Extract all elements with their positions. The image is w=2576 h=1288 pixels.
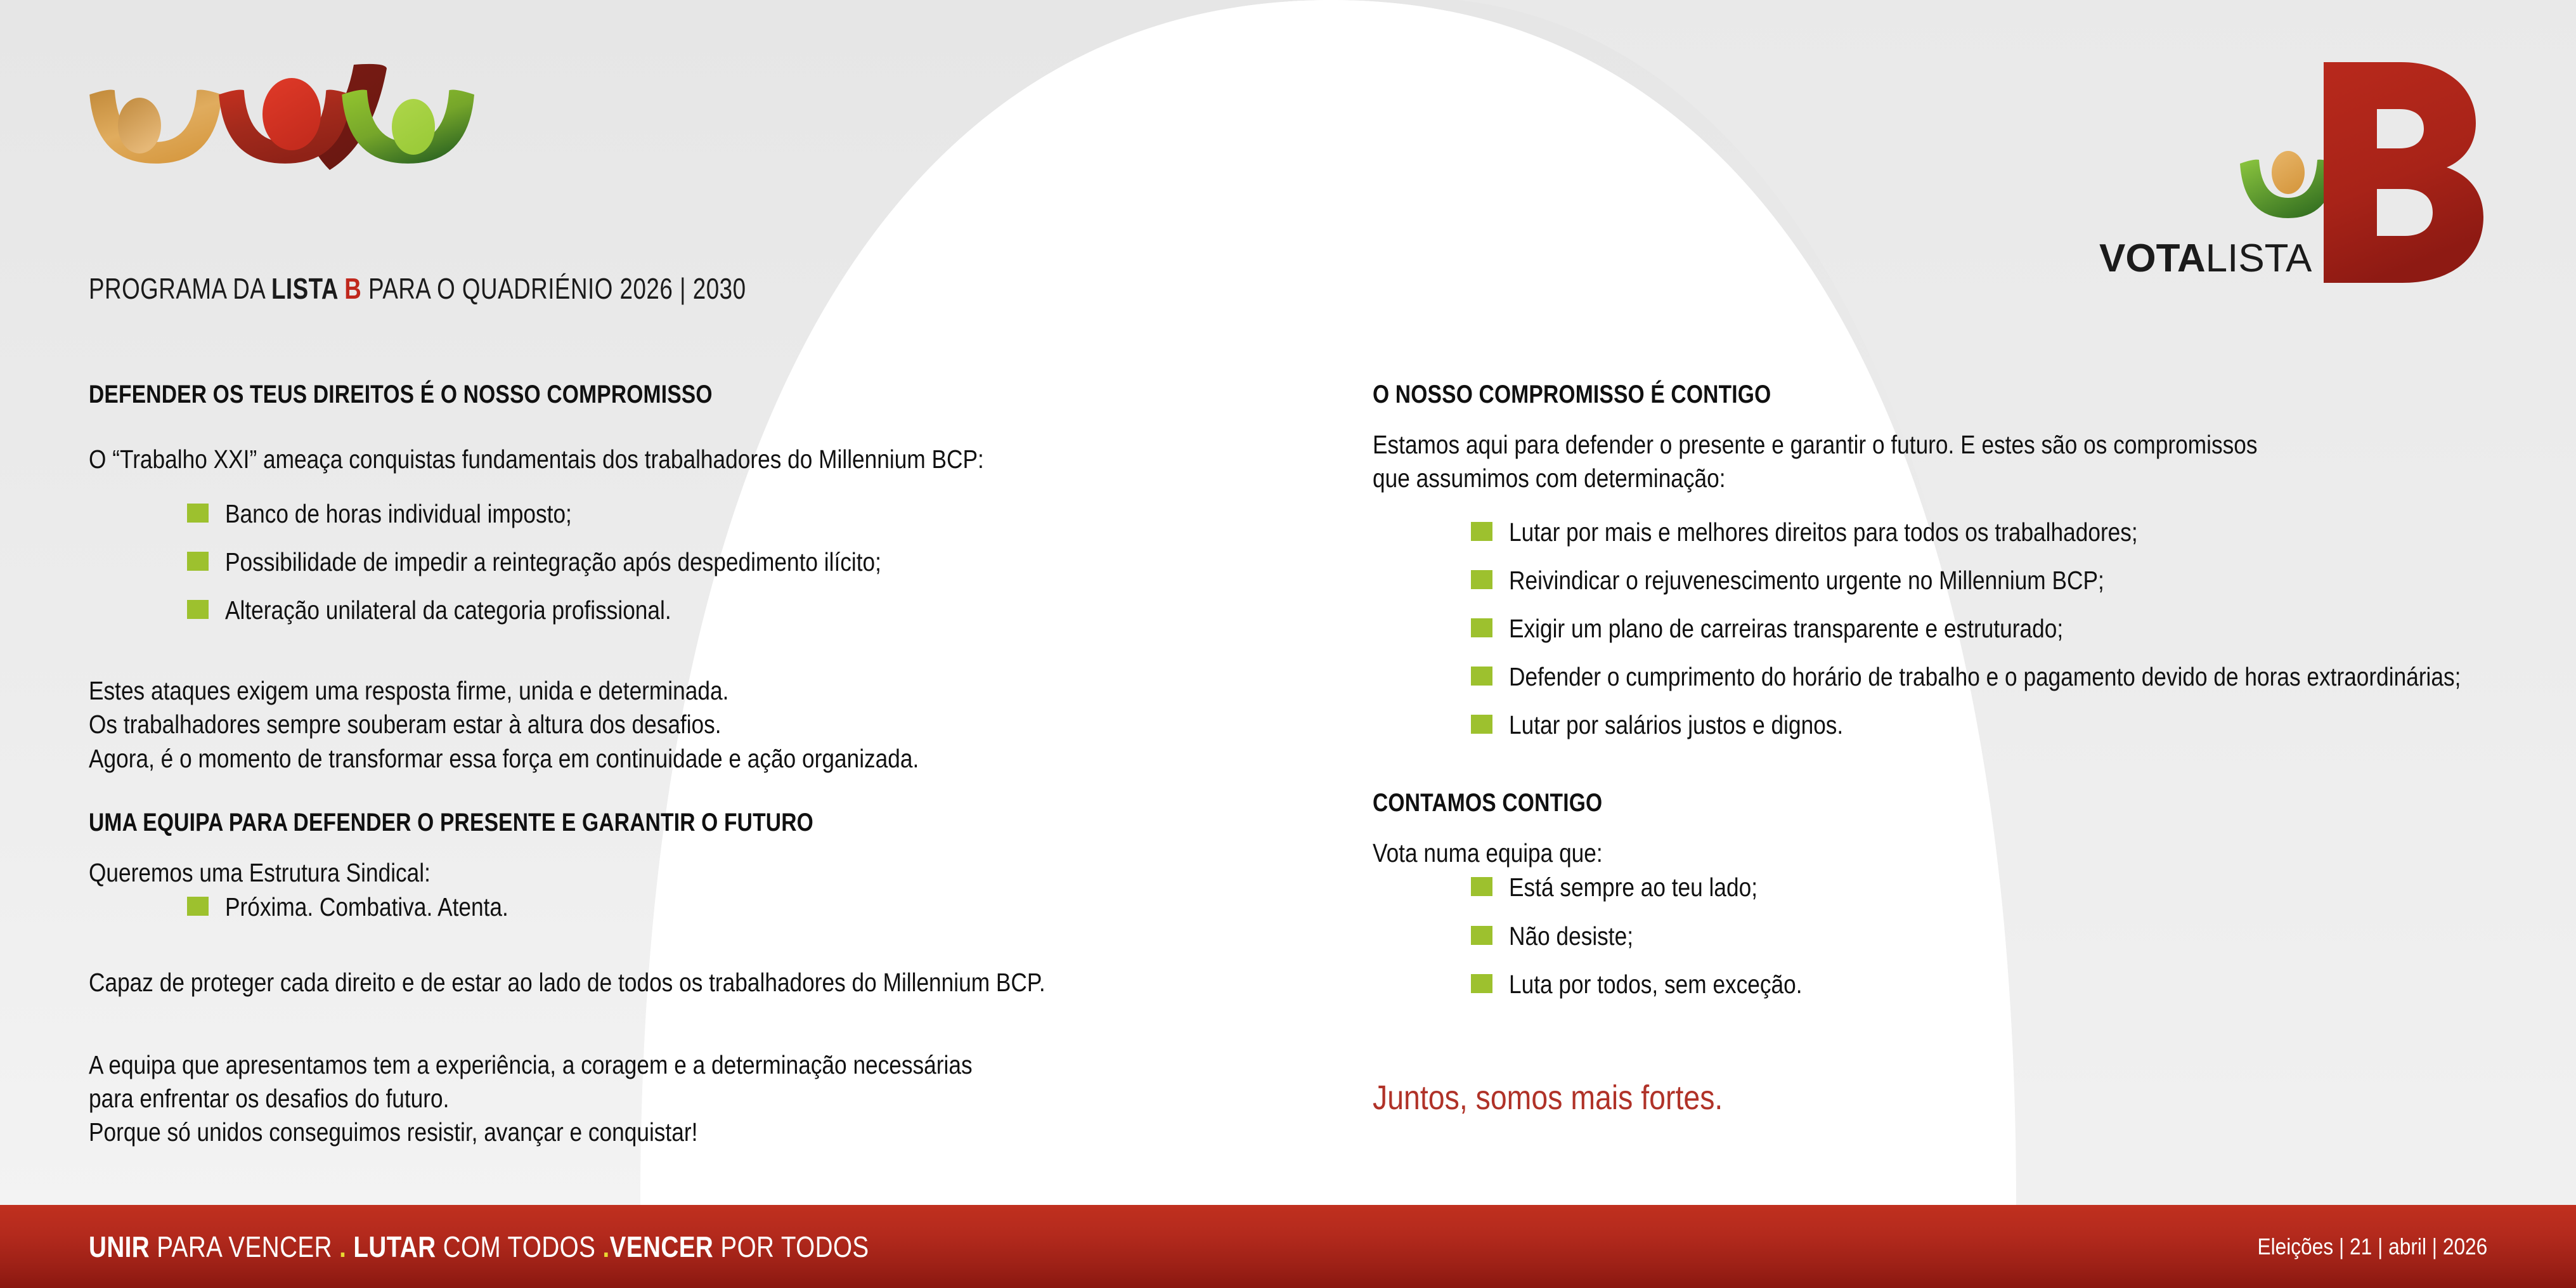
page-title: PROGRAMA DA LISTA B PARA O QUADRIÉNIO 20… bbox=[89, 271, 746, 306]
vota-logo-vota-text: VOTALISTA bbox=[2099, 237, 2312, 280]
bullet-text: Lutar por mais e melhores direitos para … bbox=[1509, 515, 2486, 549]
left-intro-paragraph-2: Queremos uma Estrutura Sindical: bbox=[89, 856, 1234, 890]
right-intro-line-1: Estamos aqui para defender o presente e … bbox=[1373, 428, 2486, 462]
footer-slogan-vencer: VENCER bbox=[610, 1230, 714, 1263]
right-heading-2: CONTAMOS CONTIGO bbox=[1373, 789, 2310, 817]
left-paragraph-4-line-3: Porque só unidos conseguimos resistir, a… bbox=[89, 1116, 1234, 1149]
bullet-text: Não desiste; bbox=[1509, 919, 2486, 953]
footer-slogan-lutar: LUTAR bbox=[346, 1230, 436, 1263]
left-paragraph-4-line-2: para enfrentar os desafios do futuro. bbox=[89, 1082, 1234, 1116]
list-item: Não desiste; bbox=[1471, 919, 2489, 953]
list-item: Luta por todos, sem exceção. bbox=[1471, 967, 2489, 1001]
footer-bar: UNIR PARA VENCER . LUTAR COM TODOS .VENC… bbox=[0, 1205, 2576, 1288]
footer-slogan: UNIR PARA VENCER . LUTAR COM TODOS .VENC… bbox=[89, 1230, 869, 1264]
left-paragraph-2-line-1: Estes ataques exigem uma resposta firme,… bbox=[89, 674, 1234, 708]
right-bullet-list-2: Está sempre ao teu lado; Não desiste; Lu… bbox=[1373, 870, 2489, 1001]
title-prefix: PROGRAMA DA bbox=[89, 272, 271, 305]
bullet-text: Banco de horas individual imposto; bbox=[225, 497, 1234, 531]
footer-slogan-unir: UNIR bbox=[89, 1230, 150, 1263]
footer-election-date: Eleições | 21 | abril | 2026 bbox=[2257, 1233, 2487, 1260]
bullet-text: Próxima. Combativa. Atenta. bbox=[225, 890, 1234, 924]
right-heading-1: O NOSSO COMPROMISSO É CONTIGO bbox=[1373, 381, 2310, 409]
left-paragraph-2-line-2: Os trabalhadores sempre souberam estar à… bbox=[89, 708, 1234, 741]
left-content-column: DEFENDER OS TEUS DIREITOS É O NOSSO COMP… bbox=[89, 381, 1236, 1150]
left-heading-1: DEFENDER OS TEUS DIREITOS É O NOSSO COMP… bbox=[89, 381, 1052, 409]
list-item: Possibilidade de impedir a reintegração … bbox=[187, 545, 1236, 579]
bullet-text: Defender o cumprimento do horário de tra… bbox=[1509, 660, 2486, 694]
closing-tagline: Juntos, somos mais fortes. bbox=[1373, 1078, 1723, 1117]
list-item: Próxima. Combativa. Atenta. bbox=[187, 890, 1236, 924]
title-lista: LISTA bbox=[271, 272, 344, 305]
left-intro-paragraph: O “Trabalho XXI” ameaça conquistas funda… bbox=[89, 442, 1234, 478]
poster-page: PROGRAMA DA LISTA B PARA O QUADRIÉNIO 20… bbox=[0, 0, 2576, 1288]
left-heading-2: UMA EQUIPA PARA DEFENDER O PRESENTE E GA… bbox=[89, 809, 1052, 837]
right-intro-line-2: que assumimos com determinação: bbox=[1373, 462, 2486, 495]
list-item: Reivindicar o rejuvenescimento urgente n… bbox=[1471, 563, 2489, 597]
footer-slogan-para-vencer: PARA VENCER bbox=[150, 1230, 339, 1263]
footer-slogan-por-todos: POR TODOS bbox=[713, 1230, 869, 1263]
title-letter-b: B bbox=[344, 272, 361, 305]
list-item: Banco de horas individual imposto; bbox=[187, 497, 1236, 531]
right-content-column: O NOSSO COMPROMISSO É CONTIGO Estamos aq… bbox=[1373, 381, 2489, 1015]
list-item: Defender o cumprimento do horário de tra… bbox=[1471, 660, 2489, 694]
left-bullet-list-2: Próxima. Combativa. Atenta. bbox=[89, 890, 1236, 924]
bullet-text: Luta por todos, sem exceção. bbox=[1509, 967, 2486, 1001]
vota-logo-lista-text: LISTA bbox=[2206, 237, 2312, 280]
left-paragraph-2-line-3: Agora, é o momento de transformar essa f… bbox=[89, 742, 1234, 776]
footer-dot-2: . bbox=[603, 1230, 610, 1263]
list-item: Lutar por mais e melhores direitos para … bbox=[1471, 515, 2489, 549]
vota-lista-b-logo: VOTALISTA bbox=[2088, 51, 2532, 298]
list-item: Lutar por salários justos e dignos. bbox=[1471, 708, 2489, 742]
bullet-text: Exigir um plano de carreiras transparent… bbox=[1509, 611, 2486, 646]
bullet-text: Reivindicar o rejuvenescimento urgente n… bbox=[1509, 563, 2486, 597]
right-intro-paragraph-2: Vota numa equipa que: bbox=[1373, 836, 2486, 870]
list-item: Alteração unilateral da categoria profis… bbox=[187, 593, 1236, 627]
footer-dot-1: . bbox=[339, 1230, 346, 1263]
title-suffix: PARA O QUADRIÉNIO 2026 | 2030 bbox=[361, 272, 746, 305]
footer-slogan-com-todos: COM TODOS bbox=[436, 1230, 603, 1263]
bullet-text: Possibilidade de impedir a reintegração … bbox=[225, 545, 1234, 579]
bullet-text: Está sempre ao teu lado; bbox=[1509, 870, 2486, 904]
list-item: Exigir um plano de carreiras transparent… bbox=[1471, 611, 2489, 646]
list-item: Está sempre ao teu lado; bbox=[1471, 870, 2489, 904]
left-paragraph-4-line-1: A equipa que apresentamos tem a experiên… bbox=[89, 1048, 1234, 1082]
left-bullet-list-1: Banco de horas individual imposto; Possi… bbox=[89, 497, 1236, 627]
left-paragraph-3: Capaz de proteger cada direito e de esta… bbox=[89, 966, 1234, 999]
bullet-text: Lutar por salários justos e dignos. bbox=[1509, 708, 2486, 742]
bullet-text: Alteração unilateral da categoria profis… bbox=[225, 593, 1234, 627]
lista-b-people-logo bbox=[89, 56, 495, 183]
right-bullet-list-1: Lutar por mais e melhores direitos para … bbox=[1373, 515, 2489, 743]
